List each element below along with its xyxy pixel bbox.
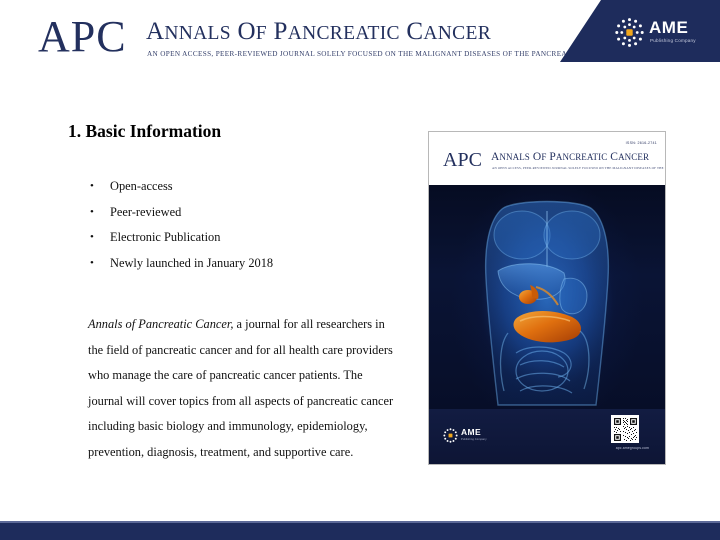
list-item: Newly launched in January 2018	[88, 251, 408, 277]
ame-dot-circle-icon	[614, 17, 645, 48]
list-item: Peer-reviewed	[88, 200, 408, 226]
footer-bar	[0, 523, 720, 540]
slide-header: APC ANNALS OF PANCREATIC CANCER AN OPEN …	[0, 0, 720, 70]
cover-footer: AME Publishing Company	[429, 409, 665, 464]
journal-name-italic: Annals of Pancreatic Cancer,	[88, 317, 233, 331]
cover-journal-title: ANNALS OF PANCREATIC CANCER	[491, 151, 649, 163]
ame-wordmark: AME	[649, 19, 688, 36]
cover-illustration	[429, 185, 665, 411]
feature-bullet-list: Open-access Peer-reviewed Electronic Pub…	[88, 174, 408, 276]
cover-journal-tagline: AN OPEN ACCESS, PEER-REVIEWED JOURNAL SO…	[492, 166, 666, 170]
cover-ame-wordmark: AME	[461, 428, 481, 437]
page-title: 1. Basic Information	[68, 121, 221, 142]
cover-header: ISSN: 2616-2741 APC ANNALS OF PANCREATIC…	[429, 132, 665, 185]
journal-cover-image: ISSN: 2616-2741 APC ANNALS OF PANCREATIC…	[428, 131, 666, 465]
cover-ame-subtitle: Publishing Company	[461, 438, 487, 441]
cover-ame-logo: AME Publishing Company	[443, 427, 498, 447]
cover-issn: ISSN: 2616-2741	[626, 141, 657, 145]
list-item: Electronic Publication	[88, 225, 408, 251]
cover-journal-url: apc.amegroups.com	[616, 446, 649, 450]
cover-journal-abbrev: APC	[443, 149, 482, 172]
ame-logo: AME Publishing Company	[614, 16, 706, 50]
journal-logo: APC ANNALS OF PANCREATIC CANCER AN OPEN …	[38, 12, 558, 64]
ame-dot-circle-icon	[443, 428, 458, 443]
qr-code	[611, 415, 639, 443]
journal-tagline: AN OPEN ACCESS, PEER-REVIEWED JOURNAL SO…	[147, 50, 571, 58]
journal-description-text: a journal for all researchers in the fie…	[88, 317, 393, 459]
journal-title: ANNALS OF PANCREATIC CANCER	[146, 18, 491, 46]
anatomy-illustration	[472, 193, 622, 408]
slide: APC ANNALS OF PANCREATIC CANCER AN OPEN …	[0, 0, 720, 540]
list-item: Open-access	[88, 174, 408, 200]
ame-subtitle: Publishing Company	[650, 38, 696, 43]
journal-abbrev-mark: APC	[38, 12, 127, 62]
journal-description: Annals of Pancreatic Cancer, a journal f…	[88, 312, 400, 465]
